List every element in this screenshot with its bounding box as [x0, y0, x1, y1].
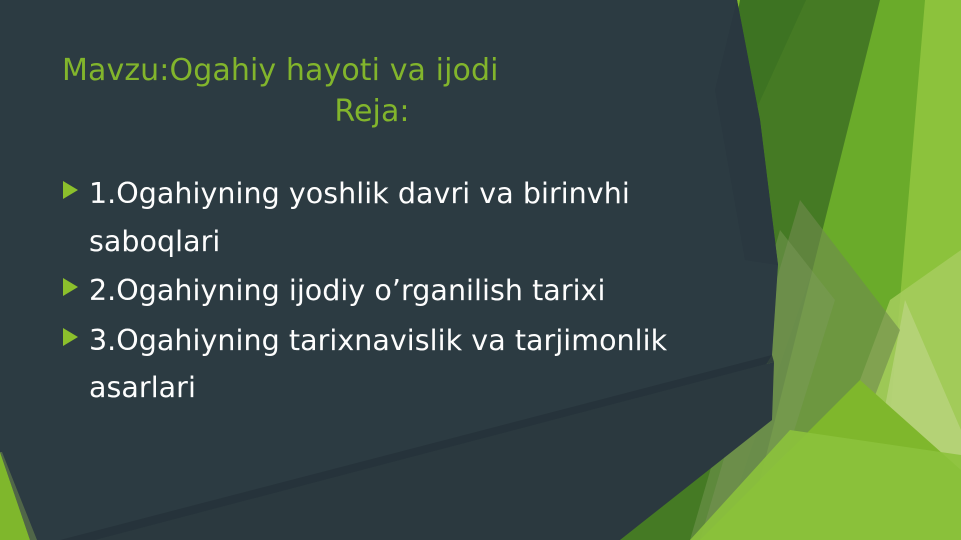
list-item: 1.Ogahiyning yoshlik davri va birinvhi s… [60, 170, 680, 265]
title-line-secondary: Reja: [62, 91, 682, 132]
slide-title: Mavzu:Ogahiy hayoti va ijodi Reja: [62, 50, 682, 132]
triangle-right-icon [63, 278, 78, 296]
list-item-text: 1.Ogahiyning yoshlik davri va birinvhi s… [89, 177, 630, 258]
list-item-text: 2.Ogahiyning ijodiy o’rganilish tarixi [89, 274, 605, 307]
triangle-right-icon [63, 181, 78, 199]
triangle-right-icon [63, 328, 78, 346]
list-item: 2.Ogahiyning ijodiy o’rganilish tarixi [60, 267, 680, 315]
list-item-text: 3.Ogahiyning tarixnavislik va tarjimonli… [89, 324, 667, 405]
title-line-primary: Mavzu:Ogahiy hayoti va ijodi [62, 50, 682, 91]
slide-content: Mavzu:Ogahiy hayoti va ijodi Reja: 1.Oga… [0, 0, 961, 540]
list-item: 3.Ogahiyning tarixnavislik va tarjimonli… [60, 317, 680, 412]
presentation-slide: Mavzu:Ogahiy hayoti va ijodi Reja: 1.Oga… [0, 0, 961, 540]
slide-body-list: 1.Ogahiyning yoshlik davri va birinvhi s… [60, 170, 680, 414]
